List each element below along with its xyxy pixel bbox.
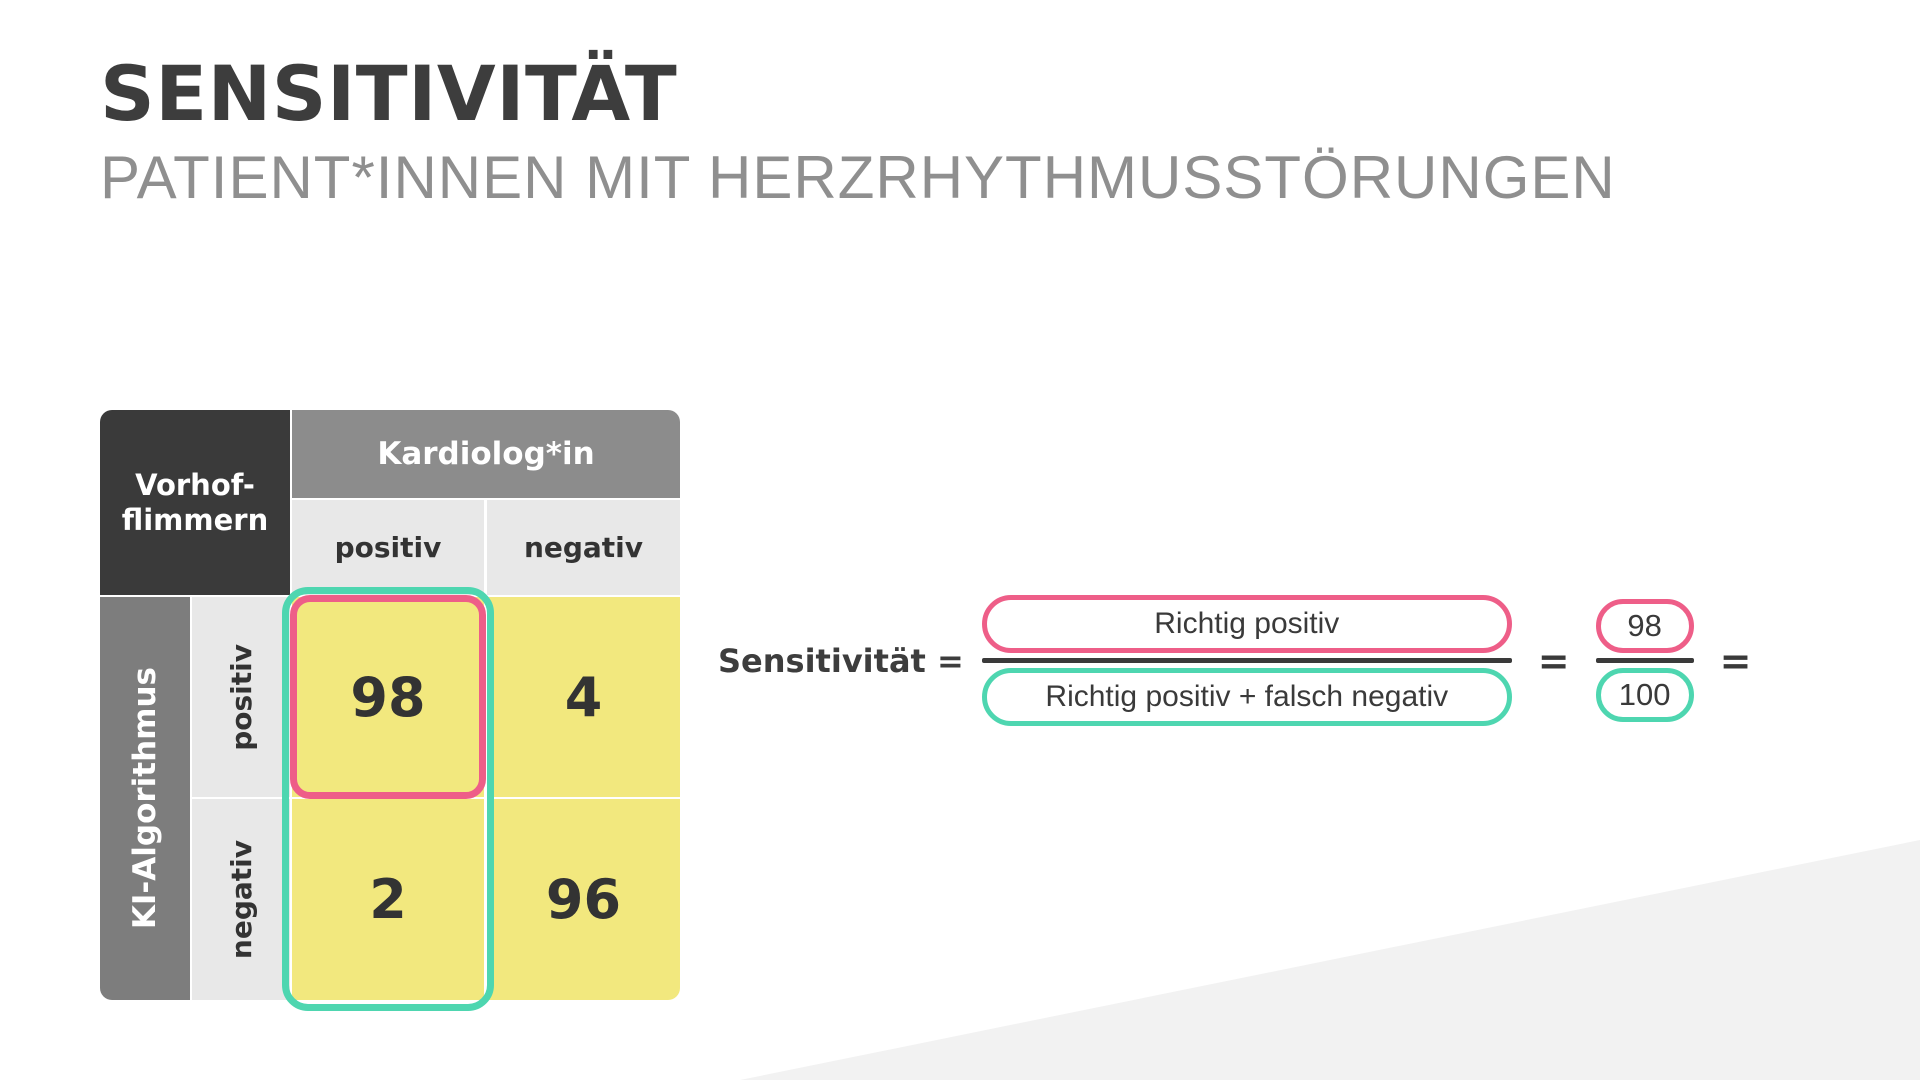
matrix-row-group-header: KI-Algorithmus — [100, 597, 190, 1000]
corner-triangle-decoration — [740, 840, 1920, 1080]
matrix-cell-true-positive: 98 — [292, 597, 484, 797]
matrix-row-header-positiv: positiv — [192, 597, 290, 797]
formula-equals-1: = — [1538, 642, 1570, 680]
corner-label-line-1: Vorhof- — [122, 468, 269, 502]
formula-equals-2: = — [1720, 642, 1752, 680]
formula-denominator-value: 100 — [1596, 668, 1694, 722]
matrix-column-header-negativ: negativ — [487, 500, 680, 595]
formula-numerator-pill: Richtig positiv — [982, 595, 1512, 653]
row-header-positiv-text: positiv — [225, 644, 258, 751]
formula-number-fraction-bar — [1596, 658, 1694, 663]
page-header: SENSITIVITÄT PATIENT*INNEN MIT HERZRHYTH… — [100, 56, 1800, 209]
formula-word-fraction: Richtig positiv Richtig positiv + falsch… — [982, 595, 1512, 726]
page-title: SENSITIVITÄT — [100, 56, 1800, 132]
corner-label-line-2: flimmern — [122, 503, 269, 537]
matrix-row-header-negativ: negativ — [192, 799, 290, 1000]
matrix-column-header-positiv: positiv — [292, 500, 484, 595]
formula-fraction-bar — [982, 658, 1512, 663]
formula-number-fraction: 98 100 — [1596, 599, 1694, 722]
formula-numerator-value: 98 — [1596, 599, 1694, 653]
matrix-corner-label: Vorhof- flimmern — [100, 410, 290, 595]
page-subtitle: PATIENT*INNEN MIT HERZRHYTHMUSSTÖRUNGEN — [100, 146, 1800, 209]
sensitivity-formula: Sensitivität = Richtig positiv Richtig p… — [718, 595, 1777, 726]
matrix-cell-true-negative: 96 — [487, 799, 680, 1000]
matrix-cell-false-positive: 4 — [487, 597, 680, 797]
matrix-cell-false-negative: 2 — [292, 799, 484, 1000]
confusion-matrix: Vorhof- flimmern Kardiolog*in positiv ne… — [100, 410, 680, 1000]
formula-label: Sensitivität = — [718, 642, 964, 680]
formula-denominator-pill: Richtig positiv + falsch negativ — [982, 668, 1512, 726]
row-group-label-text: KI-Algorithmus — [127, 667, 163, 929]
matrix-column-group-header: Kardiolog*in — [292, 410, 680, 498]
row-header-negativ-text: negativ — [225, 840, 258, 959]
